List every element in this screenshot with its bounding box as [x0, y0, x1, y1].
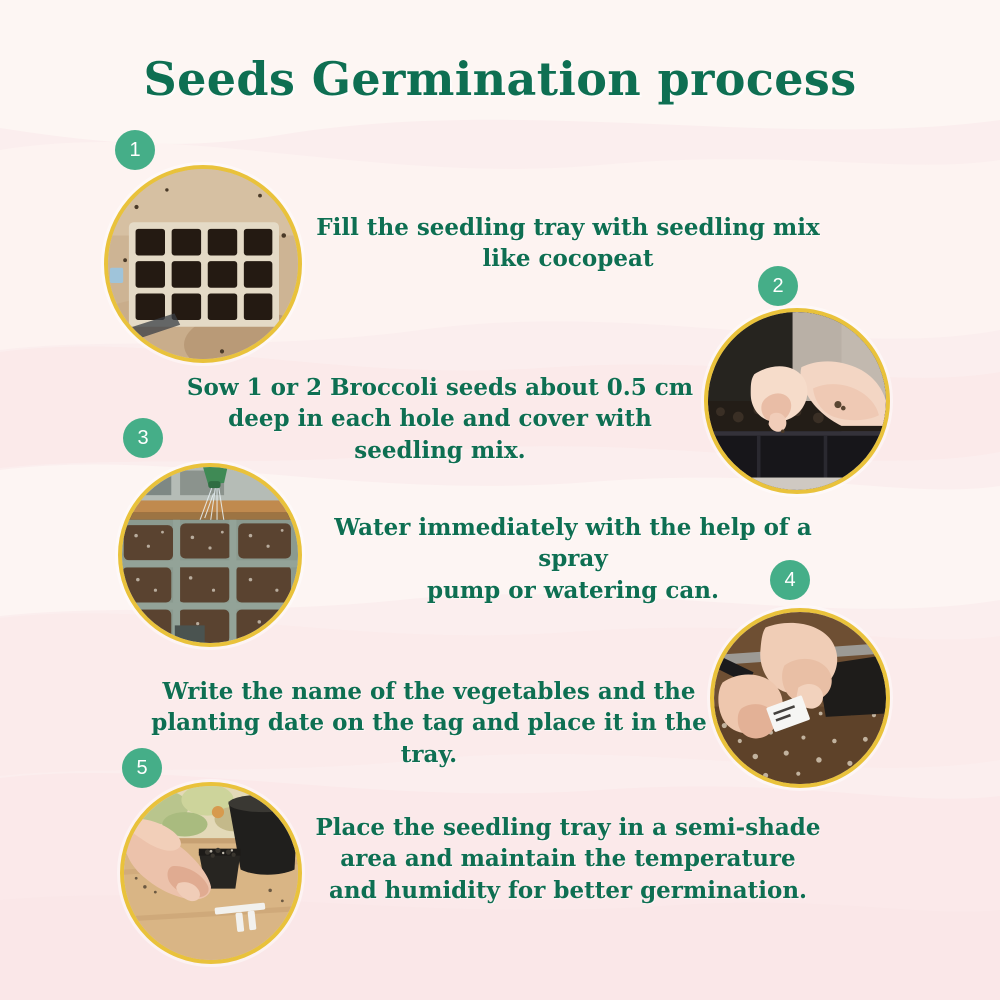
step-4-image: [710, 608, 890, 788]
step-1-number: 1: [129, 140, 140, 160]
infographic-poster: Seeds Germination process: [0, 0, 1000, 1000]
step-5-image: [120, 782, 302, 964]
writing-on-plant-tag-photo: [714, 612, 886, 784]
step-1-badge: 1: [115, 130, 155, 170]
step-2-image: [704, 308, 890, 494]
step-5-text: Place the seedling tray in a semi-shade …: [310, 812, 826, 906]
hands-sowing-seeds-into-tray-photo: [708, 312, 886, 490]
step-5-number: 5: [136, 758, 147, 778]
step-3-number: 3: [137, 428, 148, 448]
step-4-number: 4: [784, 570, 795, 590]
step-3-text: Water immediately with the help of a spr…: [300, 512, 846, 606]
step-4-text: Write the name of the vegetables and the…: [148, 676, 710, 770]
step-5-badge: 5: [122, 748, 162, 788]
step-3-image: [118, 463, 302, 647]
placing-pot-on-wooden-bench-photo: [124, 786, 298, 960]
step-2-text: Sow 1 or 2 Broccoli seeds about 0.5 cm d…: [185, 372, 695, 466]
step-2-number: 2: [772, 276, 783, 296]
step-2-badge: 2: [758, 266, 798, 306]
step-3-badge: 3: [123, 418, 163, 458]
step-1-image: [104, 165, 302, 363]
page-title: Seeds Germination process: [0, 52, 1000, 106]
spraying-water-on-seedling-tray-photo: [122, 467, 298, 643]
step-1-text: Fill the seedling tray with seedling mix…: [308, 212, 828, 275]
seedling-tray-filled-with-cocopeat-photo: [108, 169, 298, 359]
step-4-badge: 4: [770, 560, 810, 600]
